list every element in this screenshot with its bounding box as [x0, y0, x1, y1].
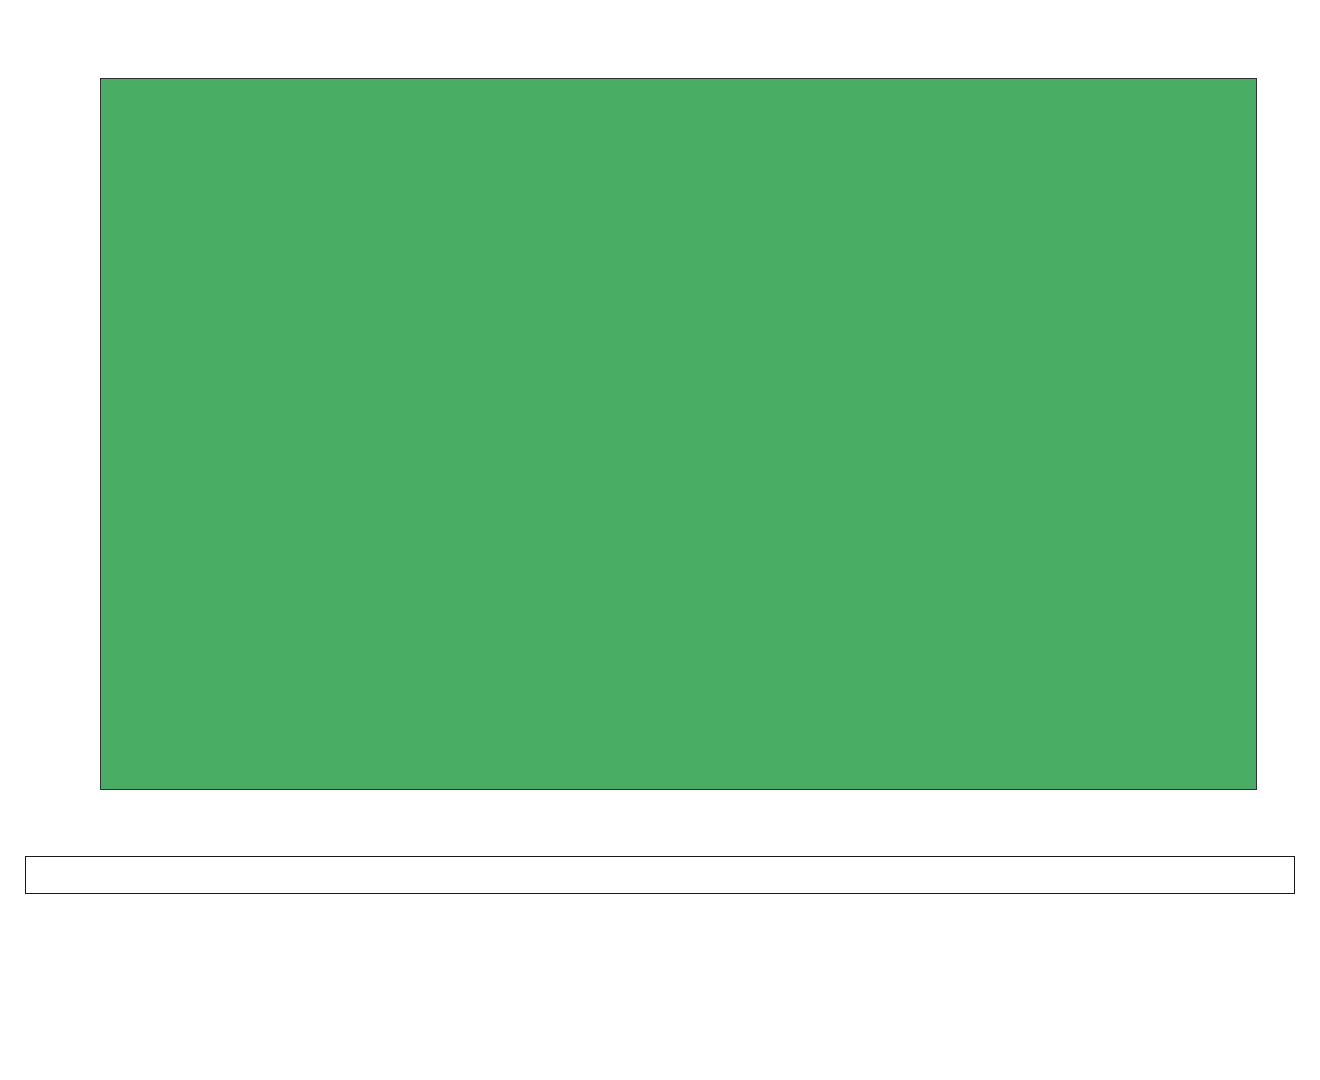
colorbar	[25, 856, 1295, 894]
colorbar-ticks	[0, 894, 1320, 922]
colorbar-category-labels	[0, 826, 1320, 854]
footer-row-primary	[0, 970, 1320, 992]
map-overlay-layer	[101, 79, 1256, 789]
latitude-axis	[0, 78, 96, 790]
footer	[0, 970, 1320, 1080]
longitude-axis	[100, 790, 1257, 830]
chart-title-container	[0, 0, 1320, 78]
heatmap-plot-area	[100, 78, 1257, 790]
